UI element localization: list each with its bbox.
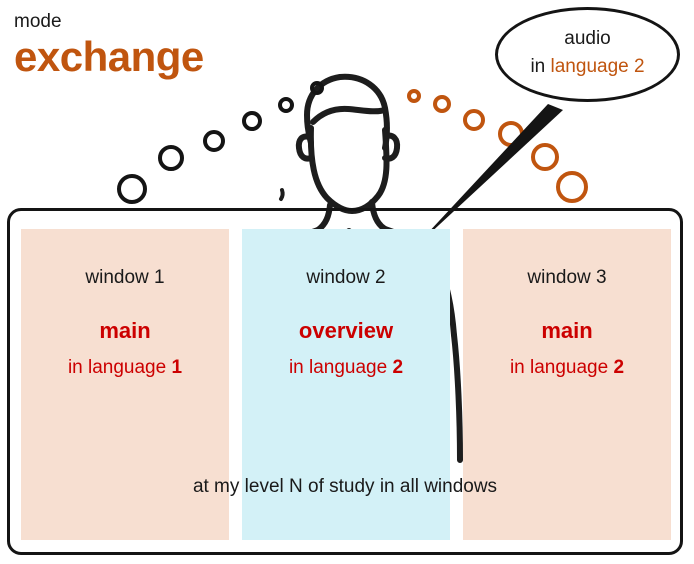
window-2-mode: overview xyxy=(242,318,450,344)
window-1-language-number: 1 xyxy=(171,357,182,378)
mode-value: exchange xyxy=(14,36,204,78)
window-3-language-number: 2 xyxy=(613,357,624,378)
window-2-language-prefix: in language xyxy=(289,357,393,378)
footer-note: at my level N of study in all windows xyxy=(10,476,680,498)
speech-bubble: audio in language 2 xyxy=(495,7,680,102)
window-3-title: window 3 xyxy=(463,267,671,289)
window-2-title: window 2 xyxy=(242,267,450,289)
window-1-language-prefix: in language xyxy=(68,357,172,378)
window-3-language: in language 2 xyxy=(463,357,671,379)
window-2-language: in language 2 xyxy=(242,357,450,379)
mode-label: mode xyxy=(14,12,62,31)
window-2-language-number: 2 xyxy=(392,357,403,378)
orange-circles-arc-icon xyxy=(409,91,586,201)
windows-container: window 1 main in language 1 window 2 ove… xyxy=(7,208,683,555)
speech-bubble-text: audio in language 2 xyxy=(495,25,680,80)
window-3-mode: main xyxy=(463,318,671,344)
speech-bubble-line-2-highlight: language 2 xyxy=(551,56,645,77)
speech-bubble-line-2: in language 2 xyxy=(495,53,680,81)
window-1-language: in language 1 xyxy=(21,357,229,379)
black-circles-arc-icon xyxy=(119,83,322,202)
speech-bubble-line-1: audio xyxy=(495,25,680,53)
window-1-title: window 1 xyxy=(21,267,229,289)
speech-bubble-line-2-prefix: in xyxy=(530,56,550,77)
window-3-language-prefix: in language xyxy=(510,357,614,378)
window-1-mode: main xyxy=(21,318,229,344)
